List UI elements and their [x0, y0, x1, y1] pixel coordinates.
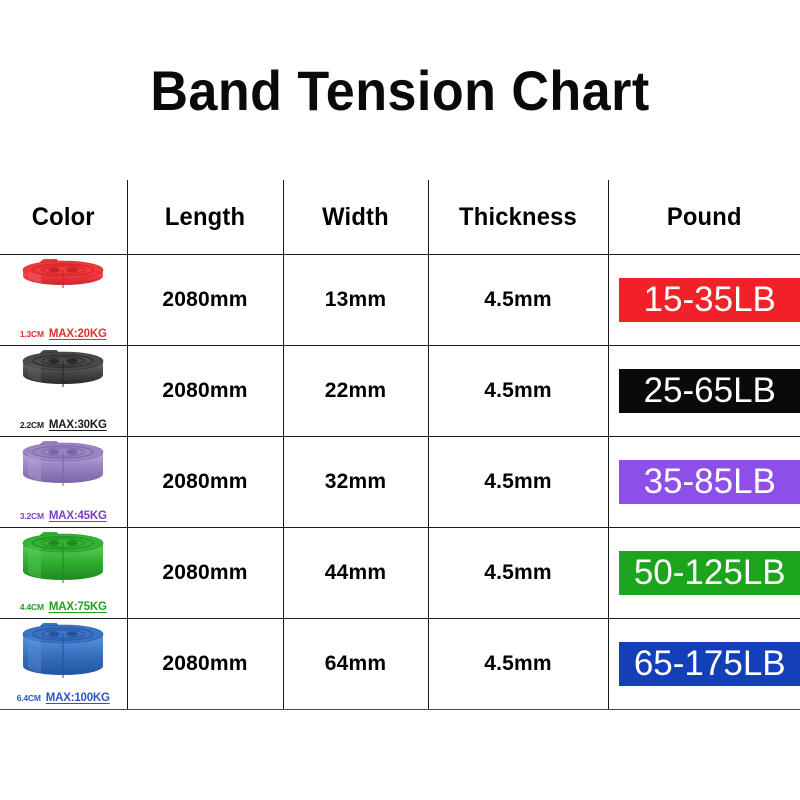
- column-header-pound: Pound: [613, 180, 795, 255]
- band-caption: 4.4CMMAX:75KG: [0, 600, 127, 613]
- cell-thickness: 4.5mm: [428, 255, 608, 346]
- table-header-row: Color Length Width Thickness Pound: [0, 180, 800, 255]
- band-caption-cm: 1.3CM: [20, 329, 44, 339]
- cell-width: 44mm: [283, 528, 428, 619]
- band-caption-max: MAX:100KG: [46, 692, 110, 704]
- cell-pound: 65-175LB: [608, 619, 800, 710]
- table-row: 2.2CMMAX:30KG 2080mm 22mm 4.5mm 25-65LB: [0, 346, 800, 437]
- band-caption: 6.4CMMAX:100KG: [0, 691, 127, 704]
- cell-pound: 15-35LB: [608, 255, 800, 346]
- band-tension-table: Color Length Width Thickness Pound: [0, 180, 800, 710]
- table-row: 3.2CMMAX:45KG 2080mm 32mm 4.5mm 35-85LB: [0, 437, 800, 528]
- band-caption-cm: 6.4CM: [17, 693, 41, 703]
- band-image-red: 1.3CMMAX:20KG: [0, 255, 127, 345]
- cell-length: 2080mm: [127, 619, 283, 710]
- cell-pound: 35-85LB: [608, 437, 800, 528]
- band-caption: 3.2CMMAX:45KG: [0, 509, 127, 522]
- pound-badge: 15-35LB: [619, 278, 800, 322]
- cell-color-purple: 3.2CMMAX:45KG: [0, 437, 127, 528]
- band-coil-black: [21, 350, 105, 398]
- band-coil-green: [21, 532, 105, 594]
- band-coil-purple: [21, 441, 105, 497]
- band-art: [21, 532, 105, 599]
- cell-pound: 50-125LB: [608, 528, 800, 619]
- pound-badge: 65-175LB: [619, 642, 800, 686]
- cell-length: 2080mm: [127, 255, 283, 346]
- band-art: [21, 259, 105, 304]
- band-image-purple: 3.2CMMAX:45KG: [0, 437, 127, 527]
- band-caption-max: MAX:30KG: [49, 419, 107, 431]
- table-row: 1.3CMMAX:20KG 2080mm 13mm 4.5mm 15-35LB: [0, 255, 800, 346]
- band-coil-red: [21, 259, 105, 299]
- column-header-length: Length: [131, 180, 279, 255]
- cell-color-blue: 6.4CMMAX:100KG: [0, 619, 127, 710]
- band-image-green: 4.4CMMAX:75KG: [0, 528, 127, 618]
- band-caption: 1.3CMMAX:20KG: [0, 327, 127, 340]
- pound-badge: 25-65LB: [619, 369, 800, 413]
- band-art: [21, 441, 105, 502]
- column-header-width: Width: [287, 180, 425, 255]
- pound-badge: 35-85LB: [619, 460, 800, 504]
- table-row: 4.4CMMAX:75KG 2080mm 44mm 4.5mm 50-125LB: [0, 528, 800, 619]
- band-caption-cm: 3.2CM: [20, 511, 44, 521]
- cell-width: 32mm: [283, 437, 428, 528]
- band-caption-max: MAX:45KG: [49, 510, 107, 522]
- band-caption-max: MAX:20KG: [49, 328, 107, 340]
- band-image-black: 2.2CMMAX:30KG: [0, 346, 127, 436]
- cell-thickness: 4.5mm: [428, 619, 608, 710]
- cell-thickness: 4.5mm: [428, 346, 608, 437]
- cell-length: 2080mm: [127, 437, 283, 528]
- cell-width: 64mm: [283, 619, 428, 710]
- band-coil-blue: [21, 623, 105, 689]
- pound-badge: 50-125LB: [619, 551, 800, 595]
- column-header-color: Color: [3, 180, 124, 255]
- cell-length: 2080mm: [127, 346, 283, 437]
- cell-width: 13mm: [283, 255, 428, 346]
- cell-color-green: 4.4CMMAX:75KG: [0, 528, 127, 619]
- band-caption: 2.2CMMAX:30KG: [0, 418, 127, 431]
- column-header-thickness: Thickness: [433, 180, 604, 255]
- cell-length: 2080mm: [127, 528, 283, 619]
- table-body: 1.3CMMAX:20KG 2080mm 13mm 4.5mm 15-35LB: [0, 255, 800, 710]
- band-caption-max: MAX:75KG: [49, 601, 107, 613]
- cell-thickness: 4.5mm: [428, 437, 608, 528]
- cell-color-red: 1.3CMMAX:20KG: [0, 255, 127, 346]
- cell-color-black: 2.2CMMAX:30KG: [0, 346, 127, 437]
- cell-thickness: 4.5mm: [428, 528, 608, 619]
- cell-pound: 25-65LB: [608, 346, 800, 437]
- cell-width: 22mm: [283, 346, 428, 437]
- table-row: 6.4CMMAX:100KG 2080mm 64mm 4.5mm 65-175L…: [0, 619, 800, 710]
- band-image-blue: 6.4CMMAX:100KG: [0, 619, 127, 709]
- band-caption-cm: 4.4CM: [20, 602, 44, 612]
- band-caption-cm: 2.2CM: [20, 420, 44, 430]
- band-art: [21, 350, 105, 403]
- page-title: Band Tension Chart: [28, 58, 772, 124]
- band-art: [21, 623, 105, 694]
